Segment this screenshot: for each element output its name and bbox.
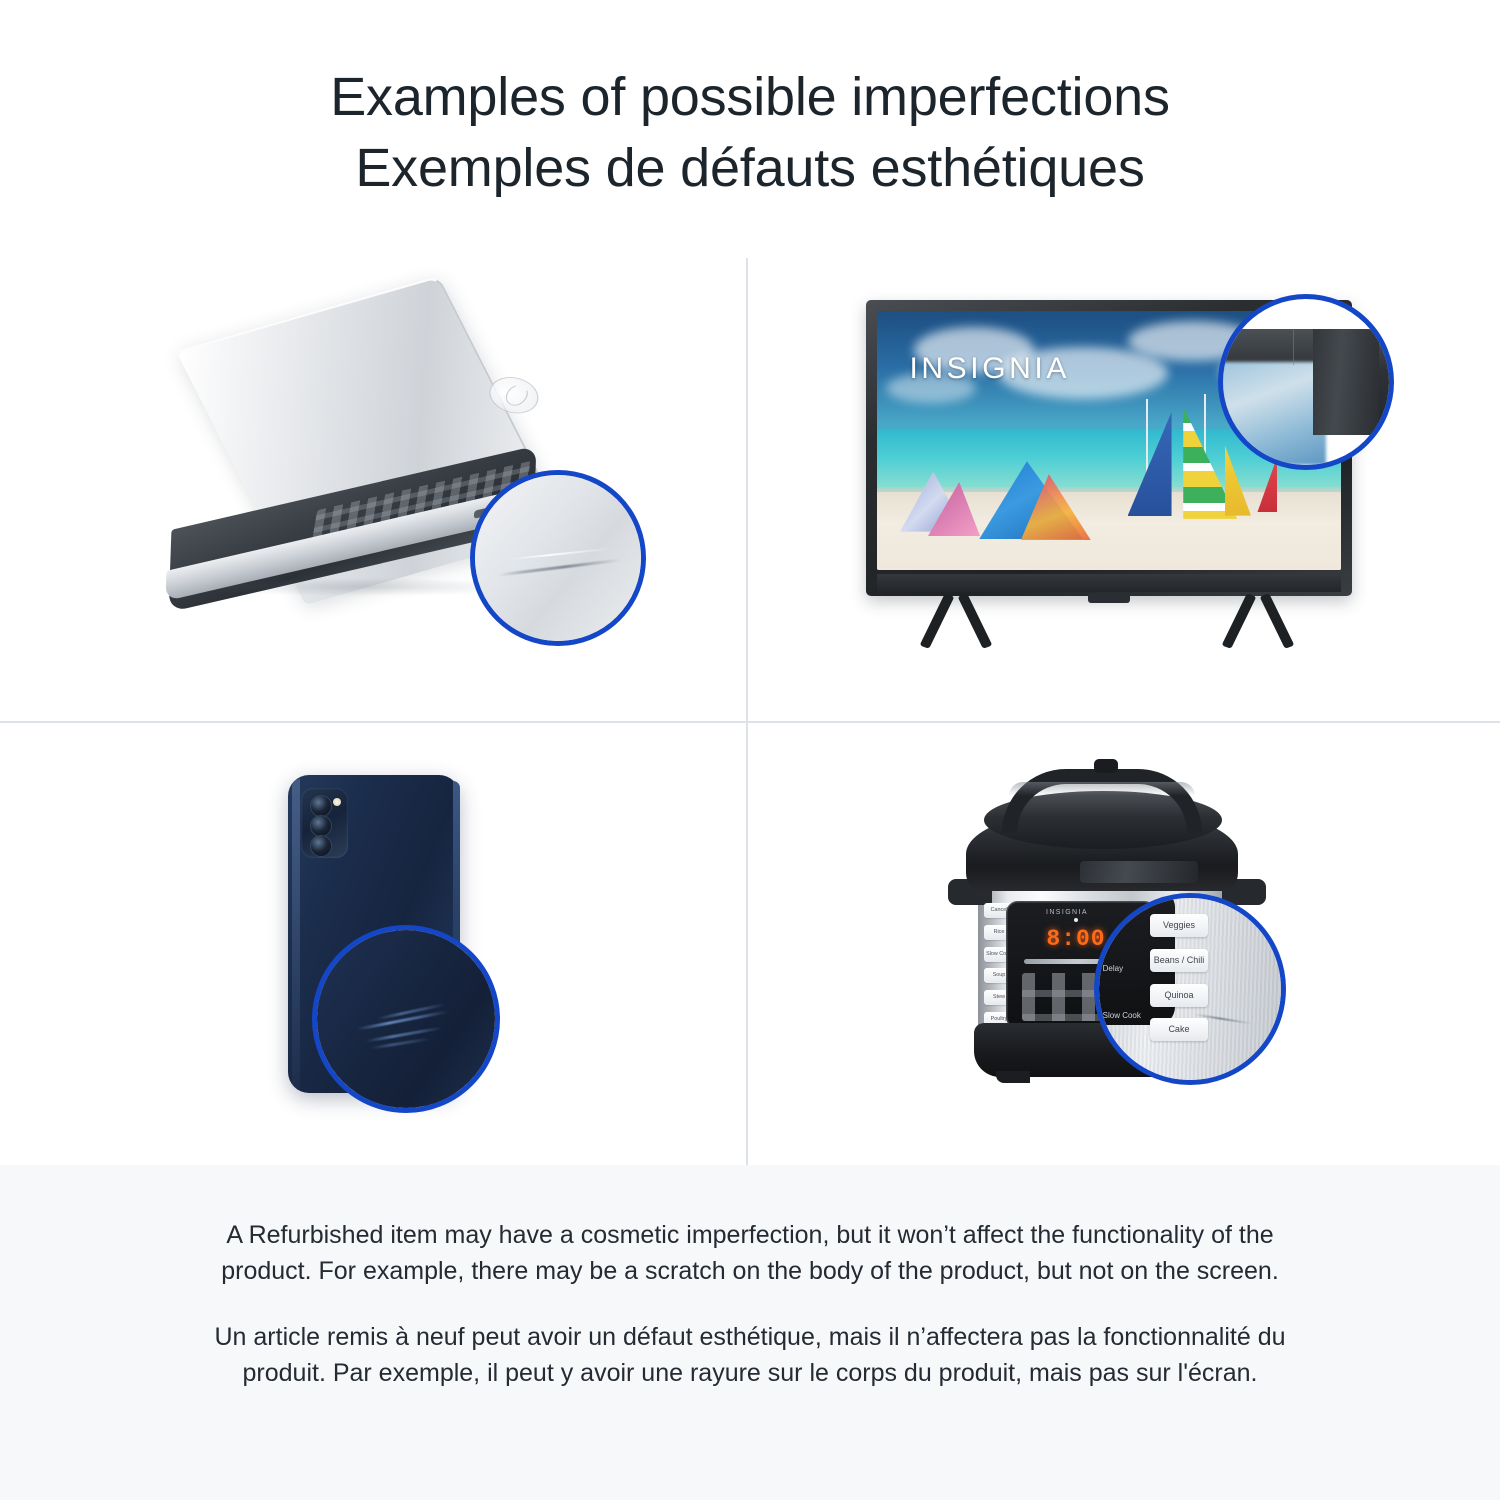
cooker-steam-valve-icon: [1094, 759, 1118, 773]
description-english: A Refurbished item may have a cosmetic i…: [190, 1217, 1310, 1289]
tv-foot-right: [1260, 593, 1295, 649]
tv-zoom-corner: [1313, 329, 1379, 435]
refurbished-imperfections-infographic: Examples of possible imperfections Exemp…: [0, 0, 1500, 1500]
cooker-zoom-button[interactable]: Quinoa: [1150, 984, 1208, 1007]
page-title-french: Exemples de défauts esthétiques: [355, 133, 1144, 204]
magnifier-circle-tv: [1218, 294, 1394, 470]
cooker-lid-plate: [1080, 861, 1198, 883]
tv-foot-right: [1222, 593, 1257, 649]
smartphone-illustration: [0, 723, 746, 1165]
tv-zoom-seam: [1293, 329, 1295, 366]
tv-brand-label: INSIGNIA: [909, 352, 1070, 386]
phone-camera-module: [301, 788, 348, 858]
grid-cell-pressure-cooker: Cancel Rice Slow Cook Soup Stew Poultry …: [748, 723, 1500, 1165]
cooker-zoom-side-label: Slow Cook: [1103, 1011, 1141, 1020]
tv-zoom-screen-edge: [1218, 362, 1326, 465]
tv-chin: [877, 574, 1341, 592]
camera-lens-icon: [310, 835, 332, 857]
cooker-brand-label: INSIGNIA: [1046, 909, 1088, 916]
laptop-logo-icon: [479, 370, 548, 420]
product-examples-grid: INSIGNIA: [0, 258, 1500, 1165]
camera-lens-icon: [310, 795, 332, 817]
camera-lens-icon: [310, 815, 332, 837]
television-illustration: INSIGNIA: [748, 258, 1500, 721]
cooker-zoom-side-label: Delay: [1103, 964, 1123, 973]
magnifier-circle-phone: [312, 925, 500, 1113]
grid-cell-smartphone: [0, 723, 748, 1165]
magnifier-circle-cooker: Veggies Beans / Chili Quinoa Cake Delay …: [1094, 893, 1286, 1085]
description-french: Un article remis à neuf peut avoir un dé…: [190, 1319, 1310, 1391]
footer-description: A Refurbished item may have a cosmetic i…: [0, 1165, 1500, 1500]
cooker-lid-handle[interactable]: [1002, 769, 1202, 833]
tv-foot-left: [958, 593, 993, 649]
grid-cell-laptop: [0, 258, 748, 723]
grid-cell-television: INSIGNIA: [748, 258, 1500, 723]
page-title-english: Examples of possible imperfections: [330, 62, 1170, 133]
pressure-cooker-illustration: Cancel Rice Slow Cook Soup Stew Poultry …: [748, 723, 1500, 1165]
cooker-zoom-button[interactable]: Veggies: [1150, 914, 1208, 937]
cooker-zoom-button[interactable]: Cake: [1150, 1018, 1208, 1041]
phone-highlight: [292, 779, 300, 1089]
cooker-zoom-button[interactable]: Beans / Chili: [1150, 949, 1208, 972]
header: Examples of possible imperfections Exemp…: [0, 0, 1500, 258]
camera-flash-icon: [333, 798, 341, 806]
magnifier-circle-laptop: [470, 470, 646, 646]
tv-foot-left: [920, 593, 955, 649]
cooker-indicator-led: [1074, 918, 1078, 922]
laptop-illustration: [0, 258, 746, 721]
tv-center-badge: [1088, 593, 1130, 603]
